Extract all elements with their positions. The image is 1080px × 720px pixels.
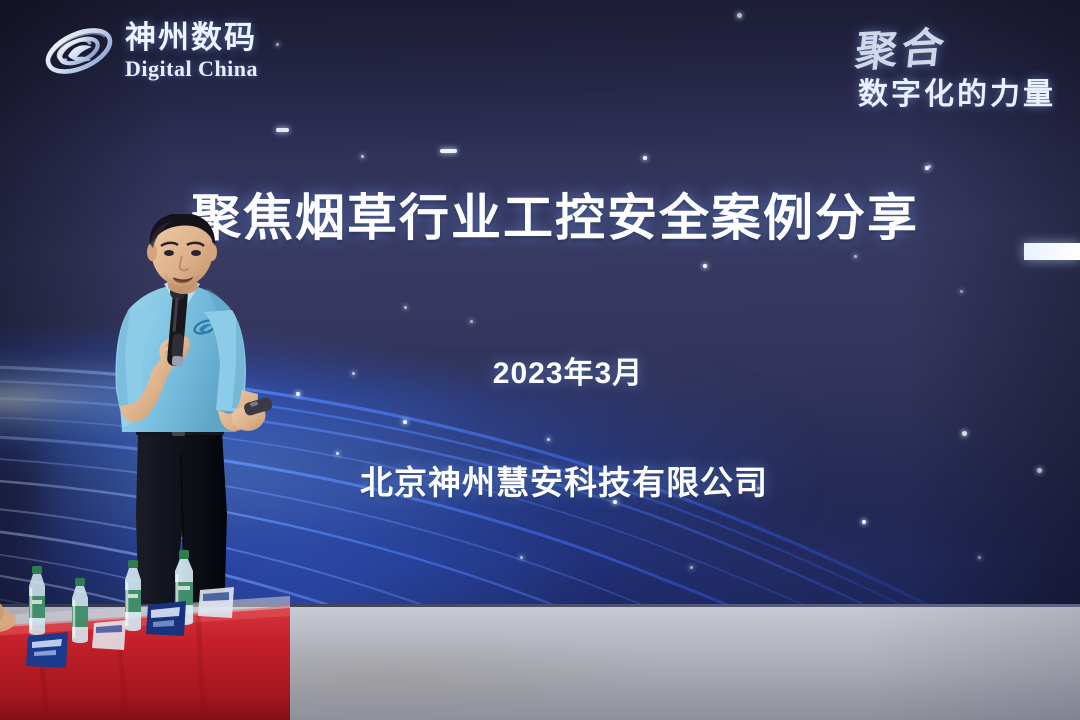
brand-name-cn: 神州数码 <box>125 22 258 53</box>
water-bottle <box>66 578 94 646</box>
digital-china-wordmark: 神州数码 Digital China <box>125 22 258 80</box>
name-card-svg <box>146 600 188 638</box>
name-card-svg <box>26 630 70 670</box>
event-theme-logo: 聚合 数字化的力量 <box>856 16 1056 113</box>
name-card-svg <box>92 618 128 652</box>
spiral-swoosh-icon <box>42 18 116 84</box>
water-bottle-svg <box>22 566 52 638</box>
screenshot-root: 神州数码 Digital China 聚合 数字化的力量 聚焦烟草行业工控安全案… <box>0 0 1080 720</box>
accent-bar-decoration <box>1024 243 1080 260</box>
digital-china-logo: 神州数码 Digital China <box>42 18 258 84</box>
water-bottle <box>22 566 52 638</box>
name-card <box>92 618 128 652</box>
name-card-svg <box>198 586 236 620</box>
water-bottle-svg <box>66 578 94 646</box>
theme-calligraphy: 聚合 <box>852 14 951 80</box>
name-card <box>198 586 236 620</box>
name-card <box>146 600 188 638</box>
brand-name-en: Digital China <box>125 58 258 80</box>
name-card <box>26 630 70 670</box>
